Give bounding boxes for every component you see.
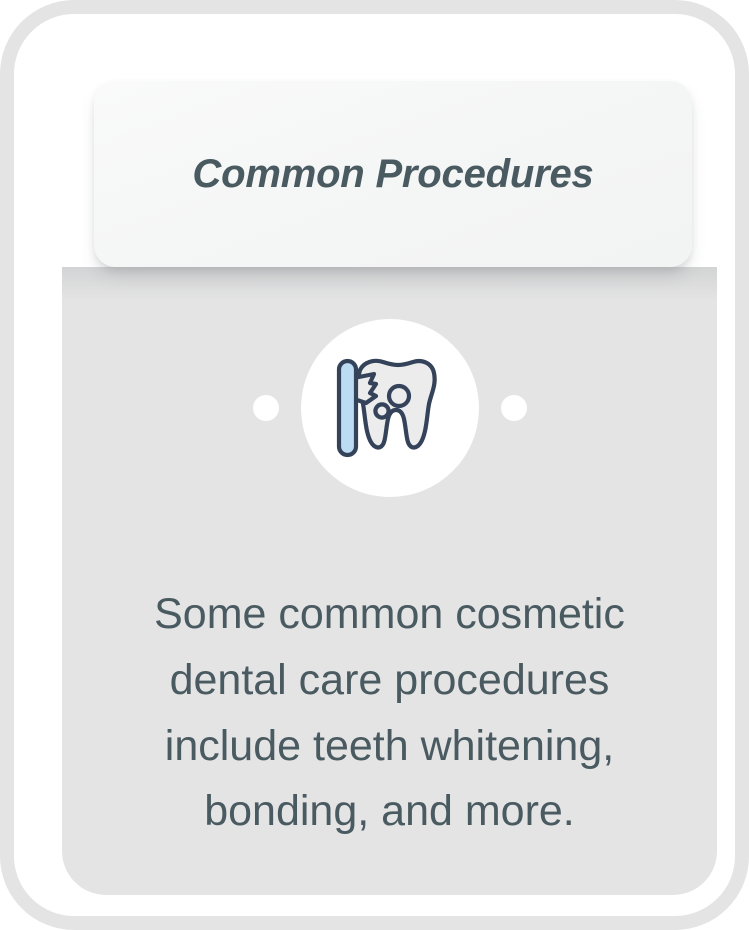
decorative-dot-right	[501, 395, 527, 421]
tooth-with-toothbrush-icon	[330, 352, 450, 464]
card-body-panel: Some common cosmetic dental care procedu…	[62, 267, 717, 895]
decorative-dot-left	[253, 395, 279, 421]
card-outer-frame: Some common cosmetic dental care procedu…	[0, 0, 749, 930]
panel-top-shadow	[62, 267, 717, 301]
card-title: Common Procedures	[192, 154, 593, 194]
icon-circle	[301, 319, 479, 497]
card-header-tab: Common Procedures	[94, 81, 692, 267]
card-body-text: Some common cosmetic dental care procedu…	[102, 582, 677, 845]
icon-row	[62, 319, 717, 497]
